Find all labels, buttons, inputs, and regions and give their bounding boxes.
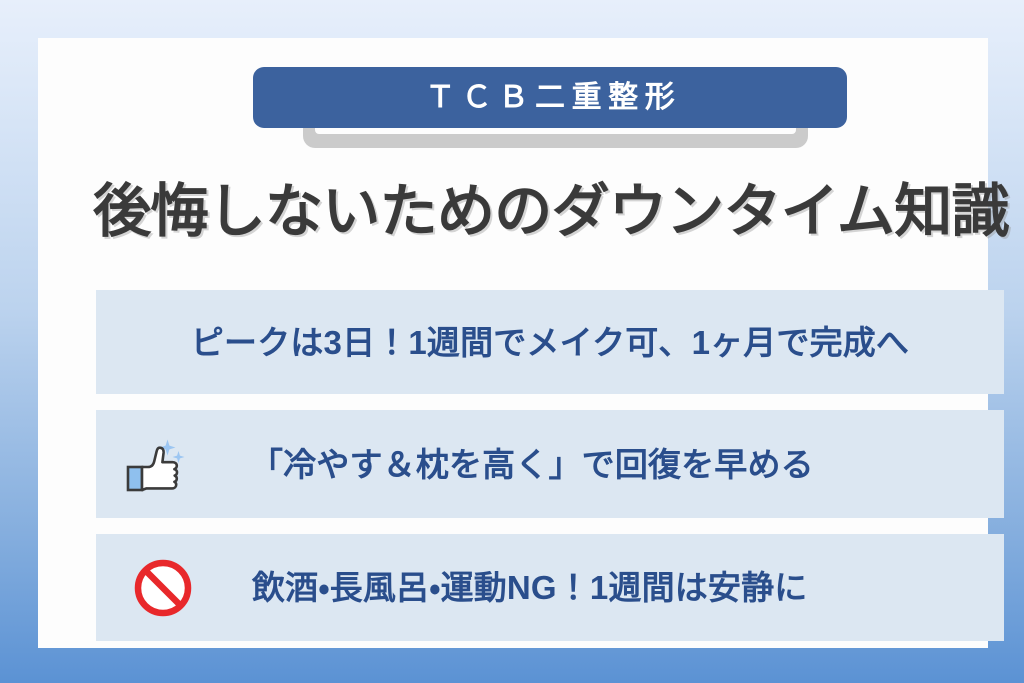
bullet-row-2: 「冷やす＆枕を高く」で回復を早める — [96, 410, 1004, 518]
thumbs-up-sparkle-icon — [118, 427, 192, 501]
bullet-row-3: 飲酒・長風呂・運動NG！1週間は安静に — [96, 534, 1004, 641]
header-banner-area: ＴＣＢ二重整形 — [38, 38, 1024, 158]
brand-banner-title: ＴＣＢ二重整形 — [419, 83, 682, 113]
bullet-row-2-text: 「冷やす＆枕を高く」で回復を早める — [250, 448, 814, 481]
bullet-row-3-text: 飲酒・長風呂・運動NG！1週間は安静に — [252, 571, 807, 604]
page-title-text: 後悔しないためのダウンタイム知識 — [93, 183, 1009, 241]
page-title: 後悔しないためのダウンタイム知識 — [76, 166, 1024, 258]
prohibition-icon — [126, 551, 200, 625]
poster-stage: ＴＣＢ二重整形 後悔しないためのダウンタイム知識 ピークは3日！1週間でメイク可… — [0, 0, 1024, 683]
bullet-row-1-text: ピークは3日！1週間でメイク可、1ヶ月で完成へ — [191, 326, 909, 359]
bullet-row-1: ピークは3日！1週間でメイク可、1ヶ月で完成へ — [96, 290, 1004, 394]
content-card: ＴＣＢ二重整形 後悔しないためのダウンタイム知識 ピークは3日！1週間でメイク可… — [38, 38, 988, 648]
brand-banner: ＴＣＢ二重整形 — [253, 67, 847, 128]
